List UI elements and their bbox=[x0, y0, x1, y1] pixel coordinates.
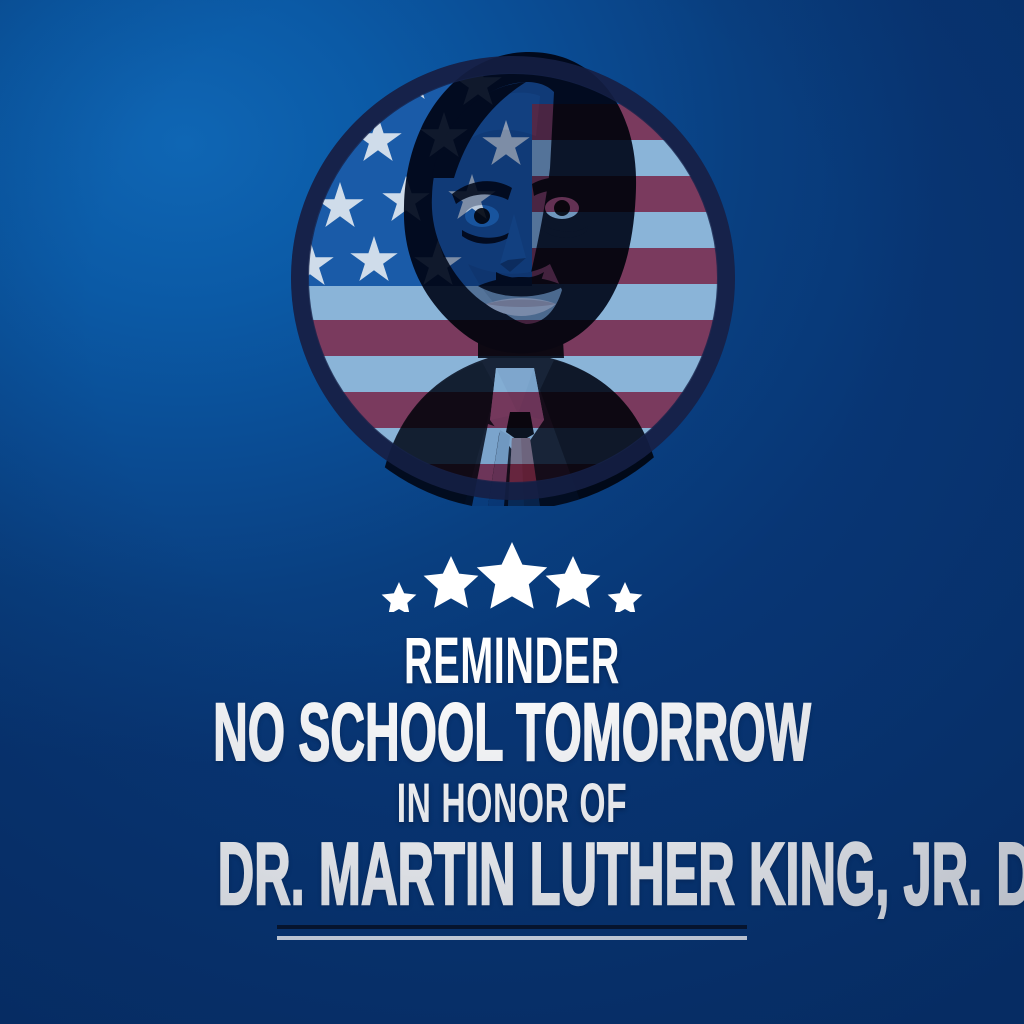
five-star-accent bbox=[0, 540, 1024, 612]
message-line-mlk-day: DR. MARTIN LUTHER KING, JR. DAY bbox=[218, 832, 807, 916]
star-large-center bbox=[477, 542, 547, 609]
message-line-no-school-tomorrow: NO SCHOOL TOMORROW bbox=[212, 694, 811, 772]
divider-rule-dark bbox=[277, 925, 747, 929]
divider bbox=[277, 925, 747, 940]
star-small-left bbox=[382, 582, 417, 612]
star-small-right bbox=[608, 582, 643, 612]
divider-rule-light bbox=[277, 936, 747, 940]
star-medium-right bbox=[546, 556, 601, 608]
message-line-in-honor-of: IN HONOR OF bbox=[205, 776, 819, 830]
message-line-reminder: REMINDER bbox=[205, 628, 819, 692]
reminder-message: REMINDER NO SCHOOL TOMORROW IN HONOR OF … bbox=[0, 628, 1024, 916]
star-medium-left bbox=[424, 556, 479, 608]
mlk-portrait-medallion bbox=[282, 28, 744, 506]
mlk-day-reminder-poster: REMINDER NO SCHOOL TOMORROW IN HONOR OF … bbox=[0, 0, 1024, 1024]
